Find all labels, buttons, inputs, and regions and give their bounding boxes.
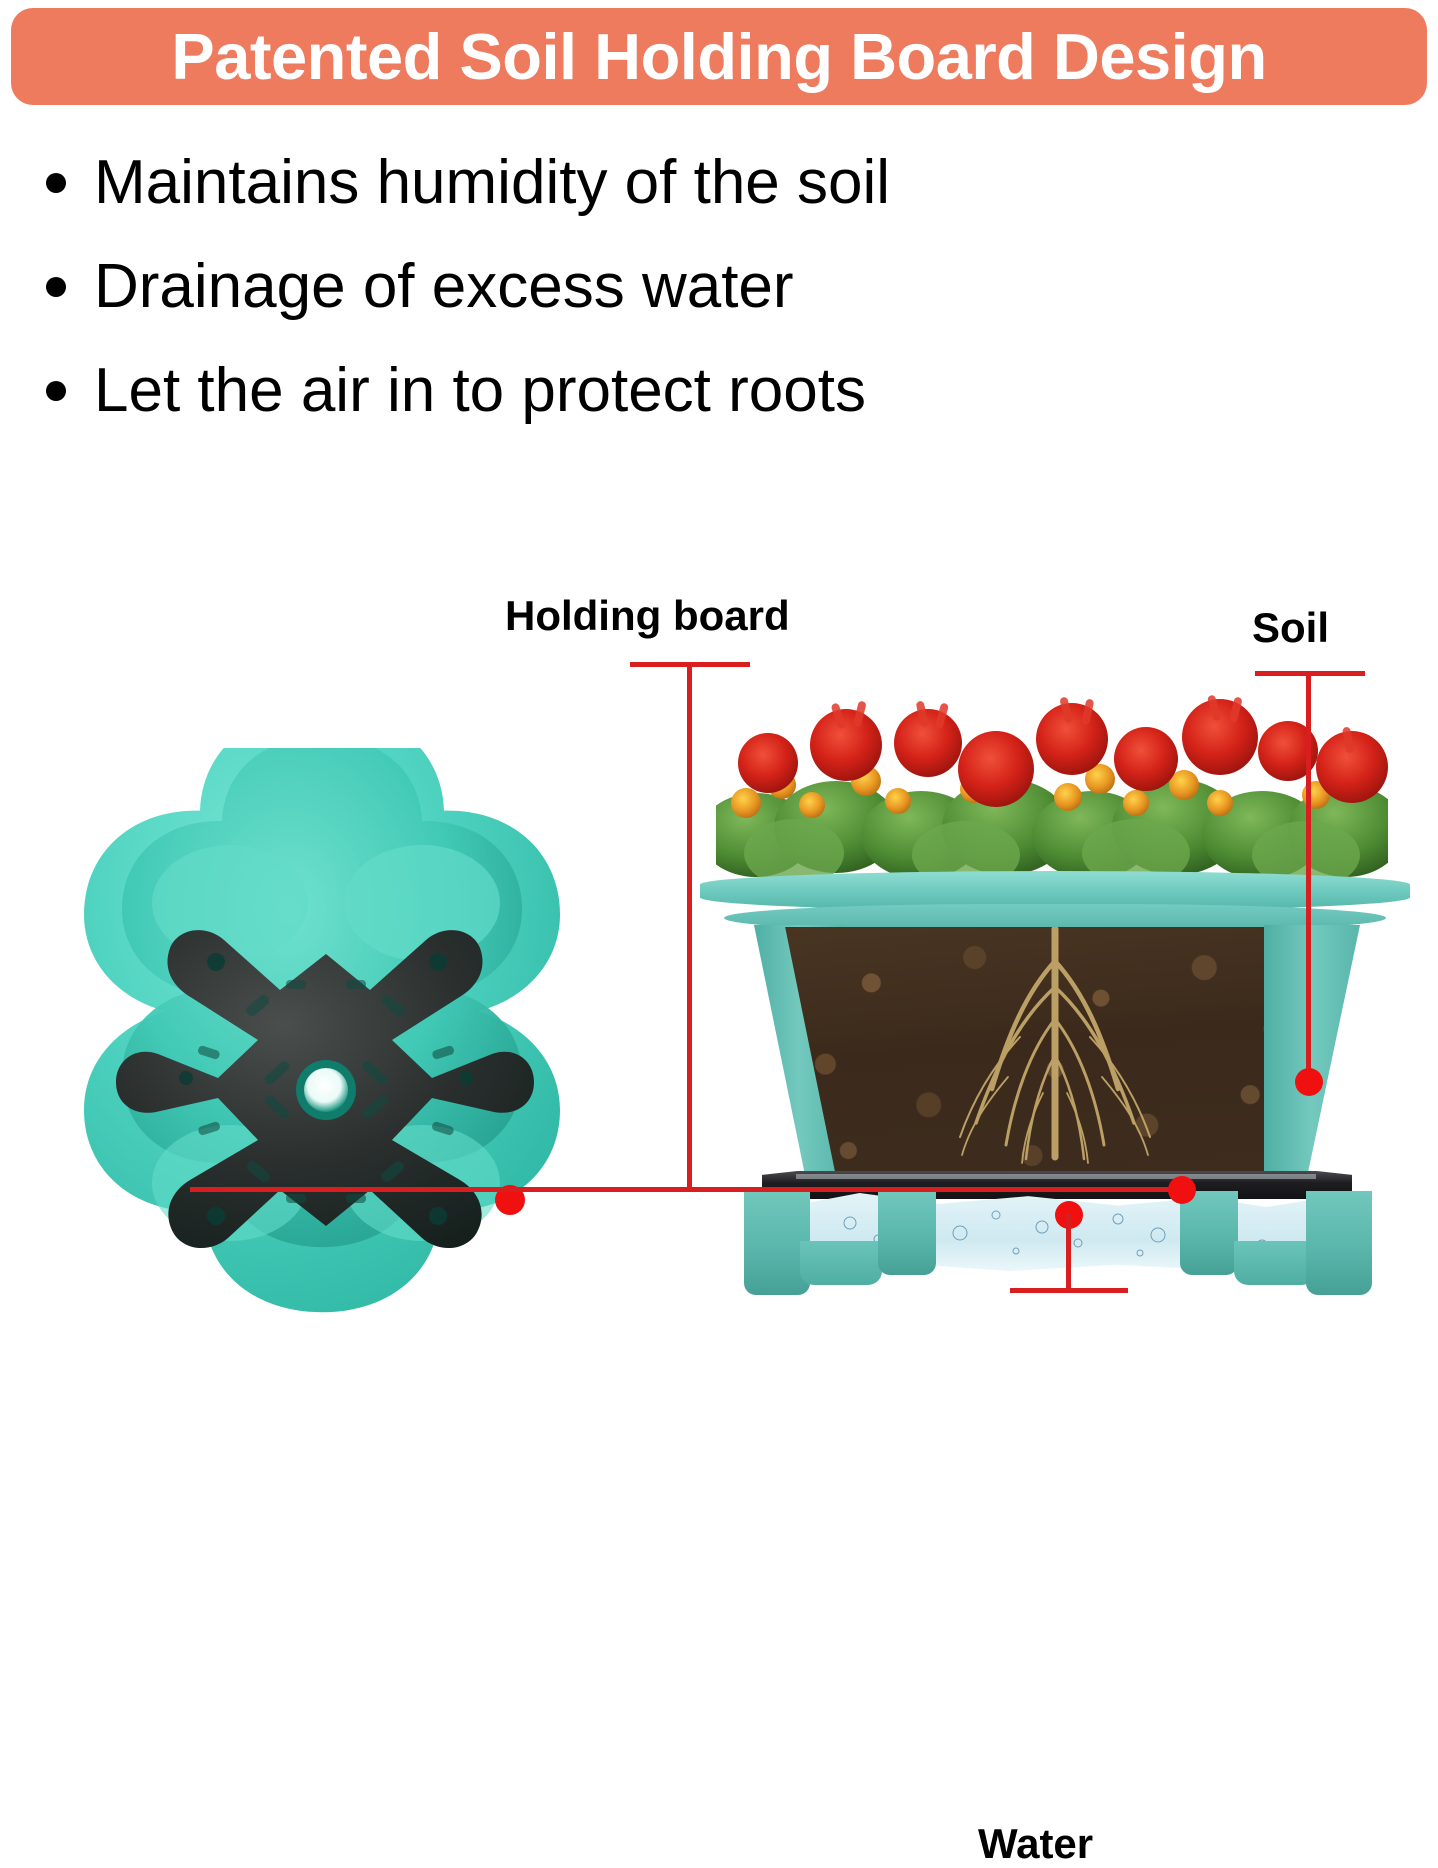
feature-text: Maintains humidity of the soil [94, 152, 890, 214]
list-item: Drainage of excess water [46, 256, 1146, 360]
drain-hole-opening [304, 1068, 348, 1112]
bullet-dot-icon [46, 381, 66, 401]
callout-dot-soil [1295, 1068, 1323, 1096]
product-diagram: Holding board Soil Water [0, 520, 1438, 1369]
list-item: Maintains humidity of the soil [46, 152, 1146, 256]
callout-vline-holding-board [687, 662, 692, 1190]
callout-label-holding-board: Holding board [505, 592, 790, 640]
holding-board-highlight [796, 1174, 1316, 1179]
feature-text: Drainage of excess water [94, 256, 794, 318]
callout-hline-holding-board [190, 1187, 1190, 1192]
callout-label-water: Water [978, 1820, 1093, 1868]
callout-vline-water [1066, 1214, 1071, 1292]
pot-foot-right [1234, 1241, 1316, 1285]
quatrefoil-planter-top-view [40, 748, 605, 1348]
planter-cross-section [700, 685, 1410, 1285]
feature-list: Maintains humidity of the soil Drainage … [46, 152, 1146, 464]
bullet-dot-icon [46, 173, 66, 193]
callout-label-soil: Soil [1252, 604, 1329, 652]
planter-top-svg [40, 748, 605, 1348]
bullet-dot-icon [46, 277, 66, 297]
header-banner: Patented Soil Holding Board Design [11, 8, 1427, 105]
pot-leg-inner-right [1180, 1191, 1238, 1275]
page-title: Patented Soil Holding Board Design [171, 19, 1266, 94]
root-system [768, 927, 1342, 1181]
feature-text: Let the air in to protect roots [94, 360, 866, 422]
callout-dot-holding-board-right [1168, 1176, 1196, 1204]
flower-bed [716, 685, 1388, 885]
pot-body [724, 925, 1386, 1185]
list-item: Let the air in to protect roots [46, 360, 1146, 464]
pot-leg-outer-right [1306, 1191, 1372, 1295]
pot-leg-inner-left [878, 1191, 936, 1275]
callout-tbar-water [1010, 1288, 1128, 1293]
flowers-svg [716, 685, 1388, 885]
pot-foot-left [800, 1241, 882, 1285]
callout-vline-soil [1306, 671, 1311, 1083]
